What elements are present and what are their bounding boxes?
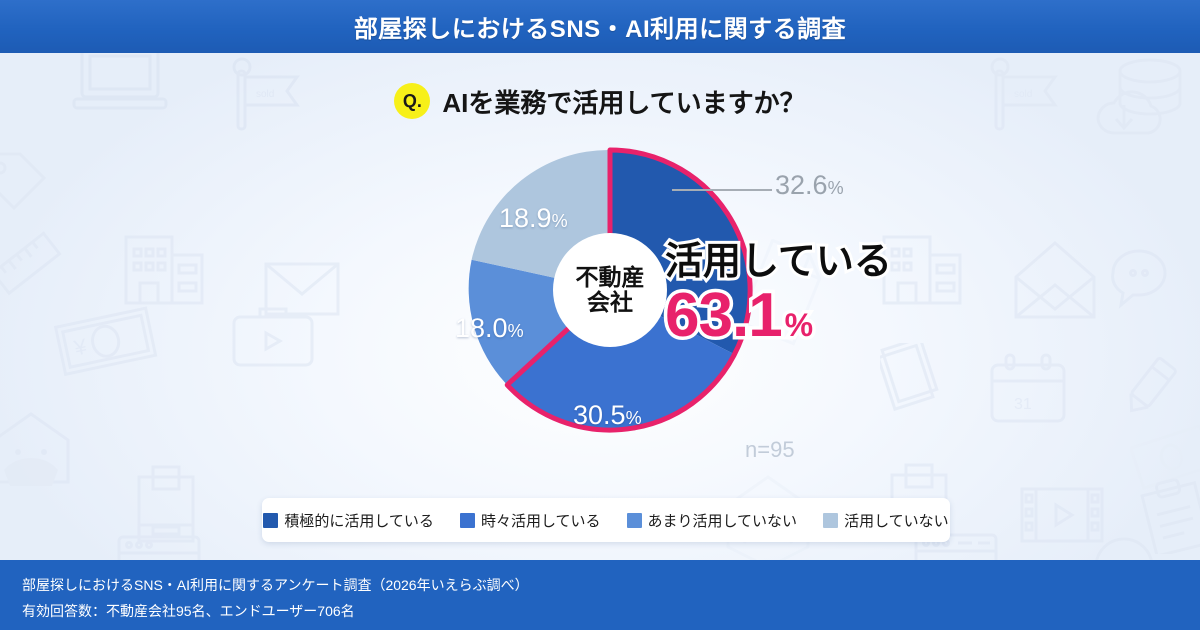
pie-center-label: 不動産 会社	[576, 265, 645, 315]
footer-line-2: 有効回答数：不動産会社95名、エンドユーザー706名	[22, 599, 529, 625]
legend-item[interactable]: 活用していない	[823, 510, 949, 531]
pie-label-leader-line	[672, 189, 772, 191]
legend-item[interactable]: 積極的に活用している	[263, 510, 434, 531]
envelope-icon	[1010, 233, 1100, 323]
pie-label-unit-2: %	[508, 321, 524, 341]
pie-label-value-0: 32.6%	[775, 170, 844, 201]
infographic-canvas: sold	[0, 0, 1200, 630]
pie-label-number-2: 18.0	[455, 313, 508, 343]
callout-heading: 活用している	[665, 243, 895, 281]
legend-swatch-icon	[823, 513, 838, 528]
pie-center-line2: 会社	[576, 290, 645, 315]
legend-item[interactable]: あまり活用していない	[627, 510, 798, 531]
pie-label-number-3: 18.9	[499, 203, 552, 233]
callout-value: 63.1	[665, 285, 782, 347]
legend-swatch-icon	[460, 513, 475, 528]
legend-swatch-icon	[263, 513, 278, 528]
legend-label: 積極的に活用している	[284, 510, 434, 531]
ruler-icon	[0, 223, 70, 313]
pie-label-value-1: 30.5%	[573, 400, 642, 431]
pie-label-value-3: 18.9%	[499, 203, 568, 234]
pie-label-unit-1: %	[626, 408, 642, 428]
pie-label-unit-3: %	[552, 211, 568, 231]
page-header: 部屋探しにおけるSNS・AI利用に関する調査	[0, 0, 1200, 53]
legend-item[interactable]: 時々活用している	[460, 510, 601, 531]
question-badge: Q.	[394, 83, 430, 119]
page-title: 部屋探しにおけるSNS・AI利用に関する調査	[354, 9, 846, 44]
footer-line-1: 部屋探しにおけるSNS・AI利用に関するアンケート調査（2026年いえらぶ調べ）	[22, 573, 529, 599]
svg-text:31: 31	[1014, 396, 1032, 413]
yen-bill-icon: ¥	[52, 303, 162, 383]
yen-bill-icon	[1130, 423, 1200, 493]
highlight-callout: 活用している 63.1 %	[665, 243, 895, 355]
footer-text-block: 部屋探しにおけるSNS・AI利用に関するアンケート調査（2026年いえらぶ調べ）…	[22, 573, 529, 625]
pie-center-line1: 不動産	[576, 265, 645, 290]
building-icon	[122, 233, 207, 308]
pie-label-number-0: 32.6	[775, 170, 828, 200]
legend-label: あまり活用していない	[648, 510, 798, 531]
legend-label: 活用していない	[844, 510, 949, 531]
legend-swatch-icon	[627, 513, 642, 528]
sample-size-label: n=95	[745, 437, 795, 463]
page-footer: 部屋探しにおけるSNS・AI利用に関するアンケート調査（2026年いえらぶ調べ）…	[0, 560, 1200, 630]
question-row: Q. AIを業務で活用していますか？	[0, 78, 1200, 124]
chart-legend: 積極的に活用している 時々活用している あまり活用していない 活用していない	[262, 498, 950, 542]
callout-unit: %	[785, 309, 813, 341]
briefcase-icon	[228, 301, 318, 373]
calendar-icon: 31	[988, 353, 1068, 431]
pie-label-value-2: 18.0%	[455, 313, 524, 344]
svg-text:¥: ¥	[71, 333, 90, 360]
tag-icon	[0, 148, 50, 218]
mascot-icon	[0, 408, 76, 503]
question-text: AIを業務で活用していますか？	[442, 83, 805, 120]
legend-label: 時々活用している	[481, 510, 601, 531]
chat-bubble-icon	[1105, 243, 1200, 323]
pie-label-number-1: 30.5	[573, 400, 626, 430]
callout-value-row: 63.1 %	[665, 285, 895, 347]
pencil-icon	[1118, 355, 1190, 425]
pie-label-unit-0: %	[828, 178, 844, 198]
